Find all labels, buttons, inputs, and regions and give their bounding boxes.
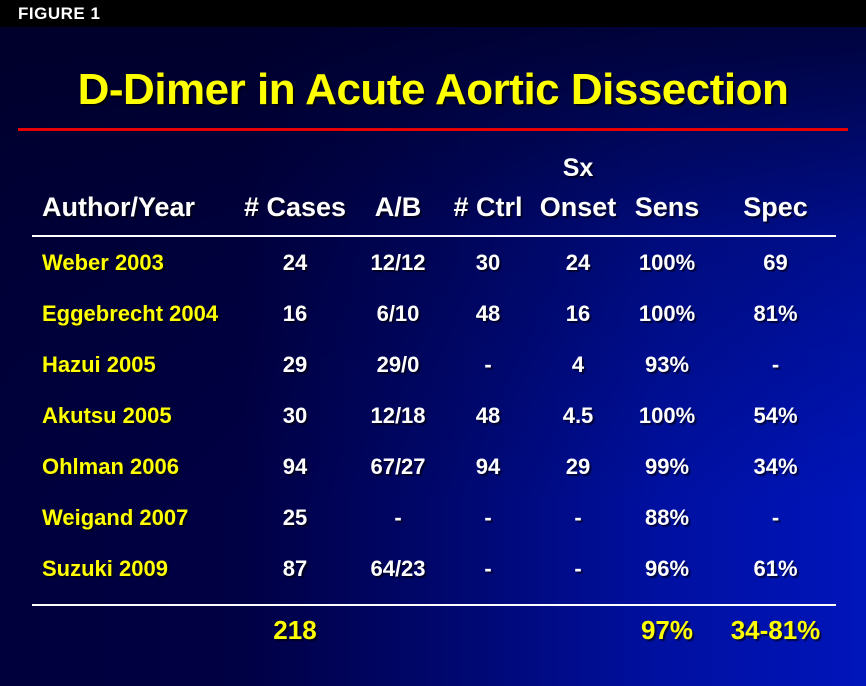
table-row: Akutsu 2005 30 12/18 48 4.5 100% 54% [0, 390, 866, 441]
table-super-header-row: Sx [0, 145, 866, 183]
figure-header-bar: FIGURE 1 [0, 0, 866, 27]
figure-label: FIGURE 1 [0, 4, 100, 24]
super-header-ctrl-spacer [441, 145, 535, 183]
cell-ab: - [355, 492, 441, 543]
total-onset [535, 606, 621, 654]
super-header-cases-spacer [235, 145, 355, 183]
table-row: Eggebrecht 2004 16 6/10 48 16 100% 81% [0, 288, 866, 339]
cell-spec: 34% [713, 441, 838, 492]
super-header-sens-spacer [621, 145, 713, 183]
total-pad [838, 606, 866, 654]
cell-ctrl: 30 [441, 237, 535, 288]
cell-ab: 12/12 [355, 237, 441, 288]
cell-onset: 29 [535, 441, 621, 492]
cell-pad [838, 543, 866, 594]
cell-spec: 81% [713, 288, 838, 339]
cell-author: Akutsu 2005 [0, 390, 235, 441]
table-row: Weigand 2007 25 - - - 88% - [0, 492, 866, 543]
cell-ctrl: - [441, 339, 535, 390]
cell-ctrl: - [441, 543, 535, 594]
total-cases: 218 [235, 606, 355, 654]
cell-onset: 4 [535, 339, 621, 390]
cell-cases: 29 [235, 339, 355, 390]
figure-slide: FIGURE 1 D-Dimer in Acute Aortic Dissect… [0, 0, 866, 686]
cell-pad [838, 237, 866, 288]
column-header-ctrl: # Ctrl [441, 183, 535, 225]
table-header-row: Author/Year # Cases A/B # Ctrl Onset Sen… [0, 183, 866, 225]
cell-cases: 25 [235, 492, 355, 543]
cell-pad [838, 492, 866, 543]
total-ab [355, 606, 441, 654]
results-table: Sx Author/Year # Cases A/B # Ctrl Onset … [0, 145, 866, 654]
header-rule-cell [0, 225, 866, 237]
cell-sens: 96% [621, 543, 713, 594]
cell-spec: 54% [713, 390, 838, 441]
cell-ab: 29/0 [355, 339, 441, 390]
column-header-cases: # Cases [235, 183, 355, 225]
table-row: Ohlman 2006 94 67/27 94 29 99% 34% [0, 441, 866, 492]
super-header-pad [838, 145, 866, 183]
cell-pad [838, 339, 866, 390]
cell-sens: 100% [621, 237, 713, 288]
cell-ctrl: 94 [441, 441, 535, 492]
cell-cases: 87 [235, 543, 355, 594]
header-rule-row [0, 225, 866, 237]
cell-ab: 6/10 [355, 288, 441, 339]
cell-onset: 16 [535, 288, 621, 339]
cell-sens: 99% [621, 441, 713, 492]
cell-onset: - [535, 543, 621, 594]
cell-pad [838, 441, 866, 492]
cell-sens: 100% [621, 288, 713, 339]
cell-spec: - [713, 339, 838, 390]
cell-author: Eggebrecht 2004 [0, 288, 235, 339]
table-row: Suzuki 2009 87 64/23 - - 96% 61% [0, 543, 866, 594]
super-header-spec-spacer [713, 145, 838, 183]
column-header-sens: Sens [621, 183, 713, 225]
page-title: D-Dimer in Acute Aortic Dissection [0, 65, 866, 115]
cell-sens: 100% [621, 390, 713, 441]
cell-cases: 16 [235, 288, 355, 339]
cell-sens: 93% [621, 339, 713, 390]
cell-sens: 88% [621, 492, 713, 543]
cell-ctrl: - [441, 492, 535, 543]
cell-spec: - [713, 492, 838, 543]
cell-ctrl: 48 [441, 390, 535, 441]
total-spec: 34-81% [713, 606, 838, 654]
cell-pad [838, 288, 866, 339]
cell-author: Suzuki 2009 [0, 543, 235, 594]
cell-pad [838, 390, 866, 441]
cell-onset: - [535, 492, 621, 543]
super-header-onset-sx: Sx [535, 145, 621, 183]
slide-body: D-Dimer in Acute Aortic Dissection [0, 27, 866, 686]
column-header-author-year: Author/Year [0, 183, 235, 225]
total-ctrl [441, 606, 535, 654]
table-row: Weber 2003 24 12/12 30 24 100% 69 [0, 237, 866, 288]
total-rule-cell [0, 594, 866, 606]
cell-author: Weigand 2007 [0, 492, 235, 543]
cell-author: Hazui 2005 [0, 339, 235, 390]
total-rule-row [0, 594, 866, 606]
cell-ctrl: 48 [441, 288, 535, 339]
cell-ab: 64/23 [355, 543, 441, 594]
total-sens: 97% [621, 606, 713, 654]
column-header-ab: A/B [355, 183, 441, 225]
cell-cases: 30 [235, 390, 355, 441]
cell-author: Weber 2003 [0, 237, 235, 288]
cell-author: Ohlman 2006 [0, 441, 235, 492]
super-header-author-spacer [0, 145, 235, 183]
title-divider [18, 128, 848, 131]
cell-onset: 24 [535, 237, 621, 288]
column-header-spec: Spec [713, 183, 838, 225]
cell-spec: 61% [713, 543, 838, 594]
table-row: Hazui 2005 29 29/0 - 4 93% - [0, 339, 866, 390]
cell-ab: 12/18 [355, 390, 441, 441]
cell-cases: 24 [235, 237, 355, 288]
cell-spec: 69 [713, 237, 838, 288]
table-total-row: 218 97% 34-81% [0, 606, 866, 654]
column-header-onset: Onset [535, 183, 621, 225]
column-header-pad [838, 183, 866, 225]
cell-ab: 67/27 [355, 441, 441, 492]
cell-cases: 94 [235, 441, 355, 492]
super-header-ab-spacer [355, 145, 441, 183]
total-author [0, 606, 235, 654]
cell-onset: 4.5 [535, 390, 621, 441]
